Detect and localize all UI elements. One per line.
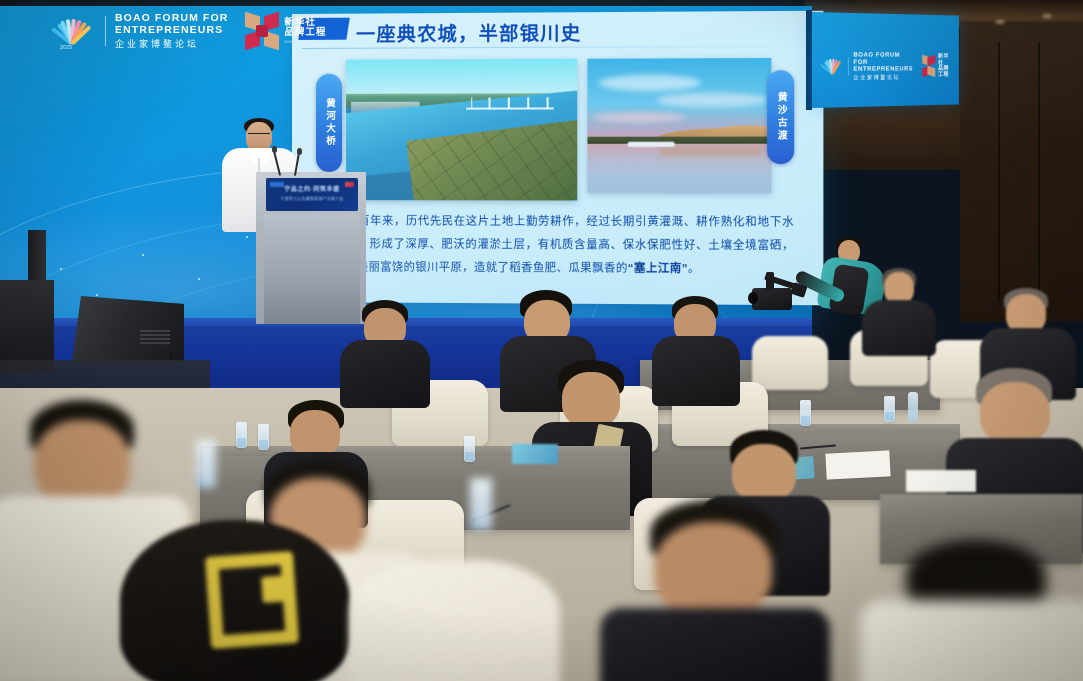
head — [654, 522, 772, 618]
podium-partner-icon — [345, 182, 354, 187]
foreground-attendee — [860, 540, 1083, 681]
partner-line2: 品牌工程 — [938, 66, 954, 78]
head — [980, 382, 1050, 444]
partner-title-block: 新华社 品牌工程 — [938, 54, 954, 78]
partner-logo: 新华社 品牌工程 — [922, 54, 954, 78]
body-line-3a: 美丽富饶的银川平原，造就了稻香鱼肥、瓜果飘香的 — [357, 261, 628, 274]
xinhua-x-mark-icon — [922, 56, 935, 76]
forum-title-block: BOAO FORUM FOR ENTREPRENEURS 企业家博鳌论坛 — [115, 13, 228, 49]
wall-seam — [1038, 42, 1040, 302]
conference-hall-photo: 2025 BOAO FORUM FOR ENTREPRENEURS 企业家博鳌论… — [0, 0, 1083, 681]
water-glass — [800, 400, 811, 426]
microphone-head-icon — [297, 148, 302, 155]
torso — [652, 336, 740, 406]
document-sheet — [906, 470, 976, 492]
torso — [600, 608, 830, 681]
fan-logo-icon: 2025 — [44, 14, 96, 48]
head — [34, 420, 130, 506]
slide-divider — [302, 46, 813, 49]
forum-year: 2025 — [60, 45, 72, 51]
booklet — [512, 444, 558, 464]
line-array-speaker — [0, 280, 54, 372]
forum-en-line1: BOAO FORUM FOR — [853, 52, 913, 66]
water-glass — [464, 436, 475, 462]
forum-cn-title: 企业家博鳌论坛 — [853, 74, 913, 81]
attendee — [652, 296, 740, 402]
ceiling-light-icon — [995, 20, 1005, 24]
partner-line1: 新华社 — [938, 54, 954, 66]
torso — [340, 340, 430, 408]
partner-logo: 新华社 品牌工程 XINHUA BRAND ENGINEERING — [245, 14, 350, 48]
chair — [752, 336, 828, 390]
water-bottle — [908, 392, 918, 422]
fan-logo-icon — [820, 56, 843, 77]
partner-line2: 品牌工程 — [284, 28, 350, 38]
camera-lens-icon — [748, 292, 758, 304]
photo-sand-dunes-sunset — [587, 58, 771, 193]
wall-seam — [998, 42, 1000, 302]
secondary-led-screen: BOAO FORUM FOR ENTREPRENEURS 企业家博鳌论坛 新华社… — [812, 12, 959, 108]
water-glass — [470, 478, 492, 530]
water-glass — [196, 440, 216, 488]
forum-en-line2: ENTREPRENEURS — [115, 25, 228, 37]
attendee — [862, 268, 936, 354]
hair-clip-detail — [261, 575, 293, 603]
foreground-attendee-with-hairclip — [120, 520, 350, 681]
body-line-2: 变化，形成了深厚、肥沃的灌淤土层，有机质含量高、保水保肥性好、土壤全境富硒，孕育… — [322, 238, 794, 273]
main-led-screen: 2025 BOAO FORUM FOR ENTREPRENEURS 企业家博鳌论… — [0, 6, 812, 328]
gimbal-rig-icon — [764, 270, 810, 298]
stage-monitor-speaker — [72, 296, 184, 362]
podium-banner: 宁品之约·同筑丰盛 宁夏贺兰山东麓葡萄酒产业推介会 — [266, 178, 358, 211]
body-quote: “塞上江南” — [628, 262, 688, 274]
document-sheet — [825, 450, 890, 479]
podium-logo-icon — [270, 182, 284, 187]
torso — [350, 560, 560, 681]
forum-branding-bar: 2025 BOAO FORUM FOR ENTREPRENEURS 企业家博鳌论… — [44, 8, 351, 54]
podium-banner-line1: 宁品之约·同筑丰盛 — [284, 184, 339, 193]
slide-title: 一座典农城，半部银川史 — [356, 18, 581, 46]
forum-cn-title: 企业家博鳌论坛 — [115, 39, 228, 49]
head — [290, 410, 340, 458]
forum-en-line2: ENTREPRENEURS — [853, 66, 913, 73]
right-wall-panels — [960, 22, 1083, 322]
logo-divider — [105, 16, 106, 46]
water-glass — [236, 422, 247, 448]
attendee — [340, 300, 430, 404]
foreground-attendee — [600, 500, 830, 681]
speaker-glasses-icon — [248, 133, 270, 139]
presentation-slide: 一座典农城，半部银川史 — [292, 11, 823, 306]
bridge-icon — [466, 103, 554, 110]
label-right-text: 黄沙古渡 — [773, 92, 788, 143]
foreground-attendee — [350, 560, 560, 681]
body-line-1: 千百年来，历代先民在这片土地上勤劳耕作，经过长期引黄灌溉、耕作熟化和地下水位 — [322, 215, 794, 250]
xinhua-x-mark-icon — [245, 14, 279, 48]
secondary-branding-bar: BOAO FORUM FOR ENTREPRENEURS 企业家博鳌论坛 新华社… — [820, 52, 955, 80]
microphone-head-icon — [272, 146, 277, 153]
monitor-grill — [140, 330, 170, 346]
body-line-3b: 。 — [688, 263, 700, 275]
label-ancient-ferry: 黄沙古渡 — [767, 70, 794, 164]
photo-yellow-river-bridge — [346, 59, 577, 201]
label-yellow-river-bridge: 黄河大桥 — [316, 74, 342, 172]
forum-title-block: BOAO FORUM FOR ENTREPRENEURS 企业家博鳌论坛 — [853, 52, 913, 81]
partner-title-block: 新华社 品牌工程 XINHUA BRAND ENGINEERING — [284, 18, 350, 44]
slide-body-text: 千百年来，历代先民在这片土地上勤劳耕作，经过长期引黄灌溉、耕作熟化和地下水位变化… — [322, 210, 794, 281]
torso — [860, 600, 1083, 681]
label-left-text: 黄河大桥 — [322, 98, 336, 148]
ceiling-light-icon — [1042, 14, 1052, 18]
head — [732, 444, 796, 502]
head — [562, 372, 620, 428]
partner-sub: XINHUA BRAND ENGINEERING — [284, 40, 350, 44]
water-glass — [884, 396, 895, 422]
torso — [862, 300, 936, 356]
podium-banner-line2: 宁夏贺兰山东麓葡萄酒产业推介会 — [281, 196, 344, 202]
